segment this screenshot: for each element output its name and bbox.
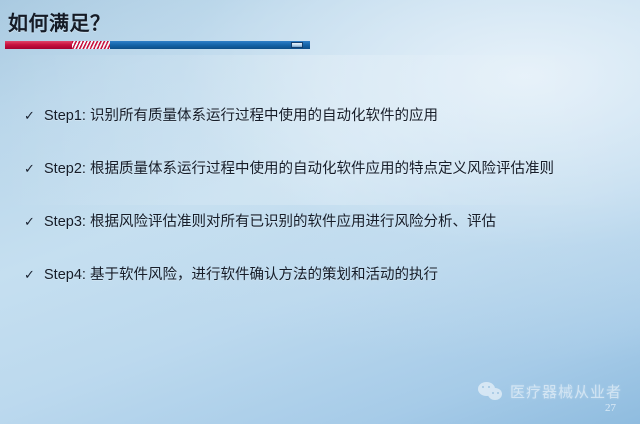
divider-end-marker	[291, 42, 303, 48]
list-item-label: Step2: 根据质量体系运行过程中使用的自动化软件应用的特点定义风险评估准则	[44, 158, 624, 180]
list-item: ✓ Step3: 根据风险评估准则对所有已识别的软件应用进行风险分析、评估	[24, 211, 624, 233]
divider-striped-segment	[72, 41, 110, 49]
page-title: 如何满足？	[8, 7, 111, 36]
bullet-list: ✓ Step1: 识别所有质量体系运行过程中使用的自动化软件的应用 ✓ Step…	[24, 105, 624, 286]
divider-red-segment	[5, 41, 72, 49]
watermark: 医疗器械从业者	[478, 381, 622, 402]
check-icon: ✓	[24, 264, 44, 286]
list-item: ✓ Step4: 基于软件风险，进行软件确认方法的策划和活动的执行	[24, 264, 624, 286]
watermark-label: 医疗器械从业者	[510, 381, 622, 402]
list-item-label: Step4: 基于软件风险，进行软件确认方法的策划和活动的执行	[44, 264, 624, 286]
list-item-label: Step3: 根据风险评估准则对所有已识别的软件应用进行风险分析、评估	[44, 211, 624, 233]
list-item-label: Step1: 识别所有质量体系运行过程中使用的自动化软件的应用	[44, 105, 624, 127]
check-icon: ✓	[24, 211, 44, 233]
check-icon: ✓	[24, 105, 44, 127]
wechat-icon	[478, 382, 504, 402]
slide-canvas: 如何满足？ ✓ Step1: 识别所有质量体系运行过程中使用的自动化软件的应用 …	[0, 0, 640, 424]
check-icon: ✓	[24, 158, 44, 180]
list-item: ✓ Step2: 根据质量体系运行过程中使用的自动化软件应用的特点定义风险评估准…	[24, 158, 624, 180]
divider-blue-segment	[110, 41, 310, 49]
page-number: 27	[605, 402, 616, 414]
title-divider-bar	[5, 41, 310, 49]
list-item: ✓ Step1: 识别所有质量体系运行过程中使用的自动化软件的应用	[24, 105, 624, 127]
